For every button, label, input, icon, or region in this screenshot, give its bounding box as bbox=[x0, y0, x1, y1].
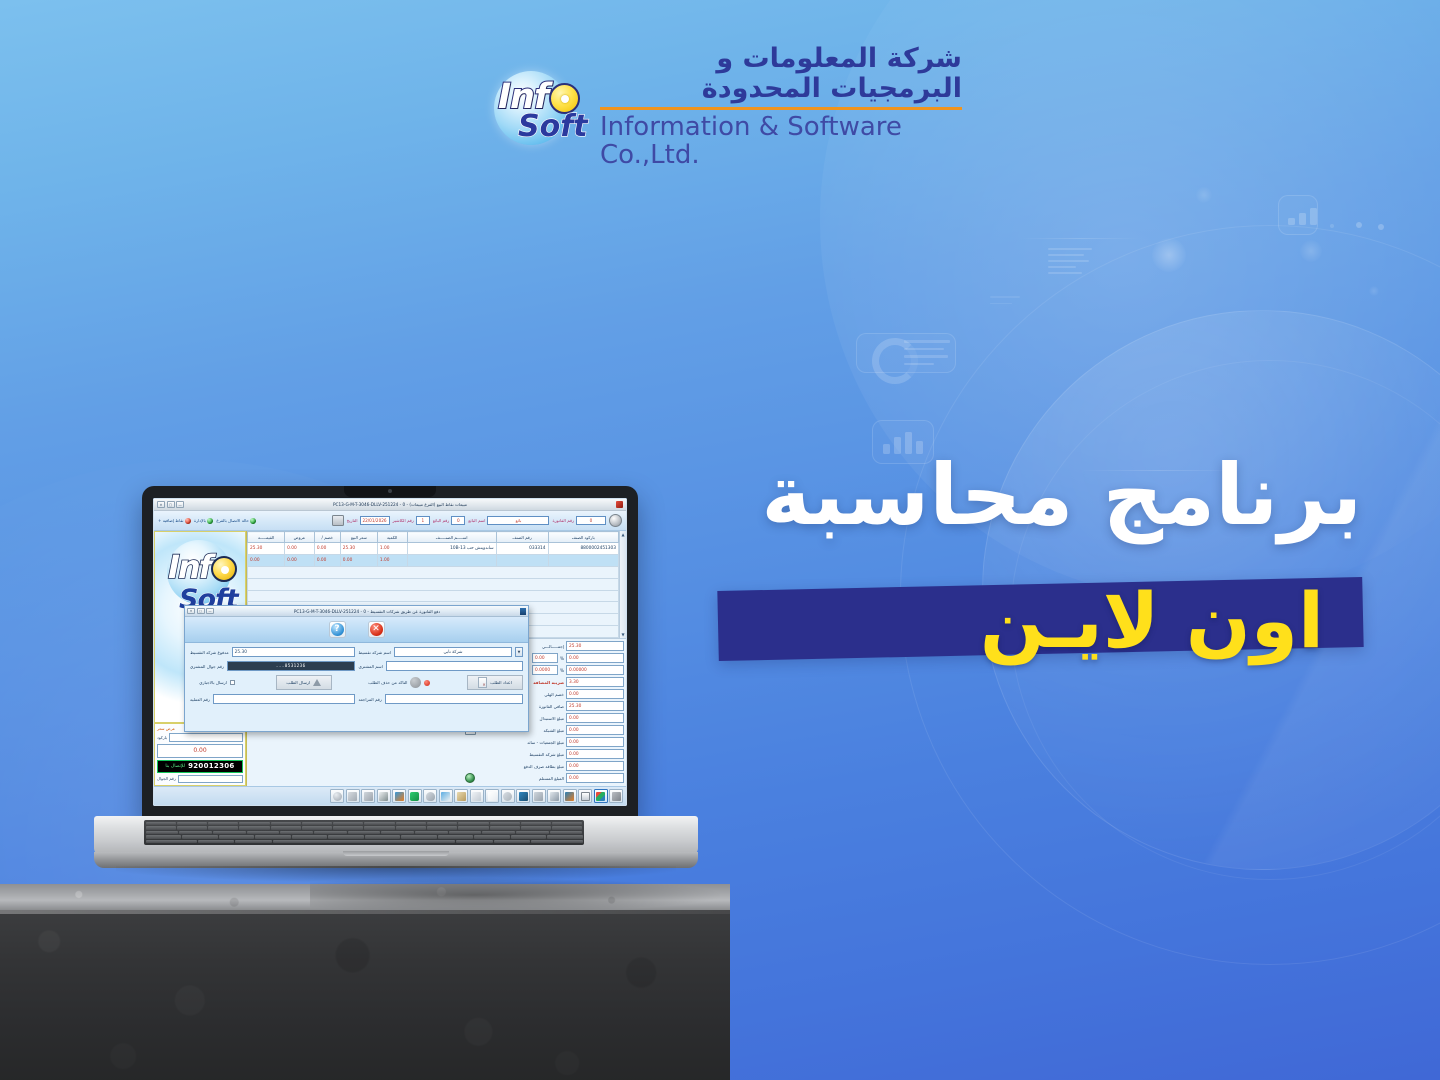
clipboard-icon[interactable] bbox=[454, 789, 468, 803]
buyer-name-input[interactable] bbox=[386, 661, 523, 671]
document-cancel-icon bbox=[478, 677, 487, 688]
laptop-deck bbox=[94, 816, 698, 856]
circle-icon[interactable] bbox=[330, 789, 344, 803]
laptop-drop-shadow bbox=[116, 866, 676, 882]
table-row[interactable] bbox=[248, 578, 619, 590]
ahli-discount-value: 0.00 bbox=[566, 689, 624, 699]
app-title: مبيعات نقاط البيع (الفرع مبيعات) - 0 - P… bbox=[187, 502, 613, 507]
cell-offers: 0.00 bbox=[285, 554, 315, 566]
brand-arabic-name: شركة المعلومات و البرمجيات المحدودة bbox=[600, 44, 962, 104]
laptop-base bbox=[86, 816, 706, 874]
total-row-installment: 0.00 مبلغ شركة التقسيط bbox=[465, 749, 624, 760]
company-select-label: اسم شركة تقسيط bbox=[359, 650, 391, 655]
help-question-icon: ? bbox=[331, 623, 344, 636]
keyboard-row bbox=[146, 826, 583, 830]
buyer-mobile-label: رقم جوال المشتري bbox=[190, 664, 224, 669]
background-line-1 bbox=[1020, 238, 1140, 239]
window-icon[interactable] bbox=[578, 789, 592, 803]
dialog-title: دفع الفاتورة عن طريق شركات التقسيط - 0 -… bbox=[216, 609, 518, 614]
delete-icon[interactable] bbox=[485, 789, 499, 803]
table-row[interactable]: 8800002451303 033314 ساندويتش حب 13-10B … bbox=[248, 543, 619, 555]
brand-english-name: Information & Software Co.,Ltd. bbox=[600, 113, 962, 170]
laptop-keyboard bbox=[144, 820, 584, 845]
report-icon[interactable] bbox=[470, 789, 484, 803]
cell-price: 0.00 bbox=[340, 554, 377, 566]
col-item-name: اســـــم الصنـــــف bbox=[407, 532, 496, 543]
keyboard-row bbox=[146, 835, 583, 839]
cell-value: 0.00 bbox=[248, 554, 285, 566]
gray-circle-icon bbox=[410, 677, 421, 688]
wizard-icon[interactable] bbox=[439, 789, 453, 803]
percent-symbol-1: % bbox=[560, 656, 564, 661]
dialog-field-amount: 25.30 مدفوع شركة التقسيط bbox=[190, 647, 355, 657]
prepaid-card-label: مبلغ بطاقة صرف الدفع bbox=[465, 764, 564, 769]
minimize-button[interactable]: — bbox=[176, 501, 184, 508]
cell-price: 25.30 bbox=[340, 543, 377, 555]
reference-label: رقم المراجعة bbox=[359, 697, 382, 702]
balloon-icon[interactable] bbox=[423, 789, 437, 803]
buyer-mobile-input[interactable]: 0531236... bbox=[227, 661, 355, 671]
dialog-minimize-button[interactable]: — bbox=[206, 608, 214, 615]
seller-no-input[interactable]: 0 bbox=[451, 516, 465, 525]
scroll-up-icon[interactable]: ▲ bbox=[621, 532, 624, 537]
status-branch-label: حالة الاتصال بالفرع bbox=[216, 518, 249, 523]
total-row-received: 0.00 المبلغ المستلم bbox=[465, 773, 624, 784]
cell-discount: 0.00 bbox=[314, 554, 340, 566]
associations-label: مبلغ الجمعيات - سائد bbox=[465, 740, 564, 745]
cell-barcode: 8800002451303 bbox=[548, 543, 618, 555]
red-led-icon bbox=[185, 518, 191, 524]
dialog-icon bbox=[520, 608, 526, 615]
contact-banner: 920012306 للإتصال بنا bbox=[157, 760, 243, 773]
seller-name-label: اسم البائع bbox=[468, 518, 485, 523]
barcode-row: باركود bbox=[157, 733, 243, 742]
associations-value: 0.00 bbox=[566, 737, 624, 747]
operation-label: رقم العملية bbox=[190, 697, 210, 702]
dialog-restore-button[interactable]: ▢ bbox=[197, 608, 205, 615]
send-request-label: ارسال الطلب bbox=[286, 680, 310, 685]
net-invoice-value: 25.30 bbox=[566, 701, 624, 711]
tag-icon[interactable] bbox=[501, 789, 515, 803]
cell-item-name bbox=[407, 554, 496, 566]
dialog-window-controls[interactable]: — ▢ ✕ bbox=[187, 608, 214, 615]
deco-report-lines bbox=[904, 340, 950, 370]
discount-pct: 0.00 bbox=[532, 653, 558, 663]
field-seller-no[interactable]: 0 رقم البائع bbox=[433, 516, 466, 525]
buyer-name-label: اسم المشتري bbox=[359, 664, 383, 669]
side-barcode-label: باركود bbox=[157, 735, 167, 740]
bar-chart-icon-top bbox=[1288, 208, 1317, 225]
side-total-display: 0.00 bbox=[157, 744, 243, 758]
company-logo: Inf Soft شركة المعلومات و البرمجيات المح… bbox=[492, 66, 962, 148]
printer2-icon[interactable] bbox=[377, 789, 391, 803]
headline-line-1: برنامج محاسبة bbox=[662, 452, 1362, 539]
send-request-button[interactable]: ارسال الطلب bbox=[276, 675, 332, 690]
network-value: 0.00 bbox=[566, 725, 624, 735]
dialog-field-reference: رقم المراجعة bbox=[359, 694, 524, 704]
cancel-request-button[interactable]: التاكد من حذف الطلب bbox=[363, 675, 435, 690]
laptop-screen: مبيعات نقاط البيع (الفرع مبيعات) - 0 - P… bbox=[153, 498, 627, 806]
dialog-row-4: رقم المراجعة رقم العملية bbox=[190, 694, 523, 704]
background-dot-2 bbox=[1378, 224, 1384, 230]
maximize-button[interactable]: ▢ bbox=[167, 501, 175, 508]
amount-label: مدفوع شركة التقسيط bbox=[190, 650, 229, 655]
contact-label: للإتصال بنا bbox=[165, 764, 185, 769]
side-bottom-panel: عرض سعر باركود 0.00 920012306 للإتصال بن… bbox=[154, 723, 246, 786]
discount-value: 0.00 bbox=[566, 653, 624, 663]
scroll-down-icon[interactable]: ▼ bbox=[621, 632, 624, 637]
table-row[interactable]: 1.00 0.00 0.00 0.00 0.00 bbox=[248, 554, 619, 566]
amount-input[interactable]: 25.30 bbox=[232, 647, 355, 657]
dialog-titlebar: دفع الفاتورة عن طريق شركات التقسيط - 0 -… bbox=[185, 606, 528, 617]
headline-block: برنامج محاسبة اون لايـن bbox=[662, 452, 1362, 539]
arrow-up-icon bbox=[313, 679, 321, 686]
infosoft-logo-mark: Inf Soft bbox=[492, 67, 588, 147]
cell-barcode bbox=[548, 554, 618, 566]
close-button[interactable]: ✕ bbox=[157, 501, 165, 508]
calc-icon[interactable] bbox=[392, 789, 406, 803]
vat-value: 3.30 bbox=[566, 677, 624, 687]
dialog-row-1: ▼ شركة تابي اسم شركة تقسيط 25.30 مدفوع ش… bbox=[190, 647, 523, 657]
seller-name-input[interactable]: بائع bbox=[487, 516, 549, 525]
folder-icon[interactable] bbox=[346, 789, 360, 803]
dialog-cancel-button[interactable]: ✕ bbox=[368, 621, 385, 638]
cell-item-no bbox=[496, 554, 548, 566]
deco-text-block bbox=[1048, 248, 1092, 278]
prepare-request-label: اعداد الطلب bbox=[490, 680, 512, 685]
dialog-row-2: اسم المشتري 0531236... رقم جوال المشتري bbox=[190, 661, 523, 671]
prepare-request-button[interactable]: اعداد الطلب bbox=[467, 675, 523, 690]
background-blur-dot-3 bbox=[1196, 187, 1212, 203]
status-admin: بالإدارة bbox=[194, 518, 213, 524]
installment-label: مبلغ شركة التقسيط bbox=[465, 752, 564, 757]
chat-icon[interactable] bbox=[408, 789, 422, 803]
side-barcode-input[interactable] bbox=[169, 733, 243, 742]
dialog-field-mobile: 0531236... رقم جوال المشتري bbox=[190, 661, 355, 671]
cell-discount: 0.00 bbox=[314, 543, 340, 555]
col-qty: الكمية bbox=[377, 532, 407, 543]
dialog-field-operation: رقم العملية bbox=[190, 694, 355, 704]
status-points-label: نقاط إضافية + bbox=[158, 518, 184, 523]
keyboard-row bbox=[146, 831, 583, 835]
rate-value: 0.00000 bbox=[566, 665, 624, 675]
brand-divider bbox=[600, 107, 962, 110]
send-whatsapp-toggle[interactable]: ارسال بالاجباري bbox=[190, 675, 244, 690]
brand-text: شركة المعلومات و البرمجيات المحدودة Info… bbox=[600, 44, 962, 170]
send-whatsapp-label: ارسال بالاجباري bbox=[199, 680, 227, 685]
table-row[interactable] bbox=[248, 590, 619, 602]
side-logo-info-text: Inf bbox=[168, 548, 211, 586]
app-titlebar: مبيعات نقاط البيع (الفرع مبيعات) - 0 - P… bbox=[154, 499, 626, 511]
cell-value: 25.30 bbox=[248, 543, 285, 555]
cashier-no-label: رقم الكاشير bbox=[393, 518, 414, 523]
refresh-icon[interactable] bbox=[609, 514, 622, 527]
installment-payment-dialog: دفع الفاتورة عن طريق شركات التقسيط - 0 -… bbox=[184, 605, 529, 732]
field-invoice-no[interactable]: 0 رقم الفاتورة bbox=[552, 516, 606, 525]
connection-status-group: حالة الاتصال بالفرع بالإدارة نقاط إضافية… bbox=[158, 518, 256, 524]
grid-header-row: باركود الصنف رقم الصنف اســـــم الصنــــ… bbox=[248, 532, 619, 543]
rate-pct: 0.0000 bbox=[532, 665, 558, 675]
app-icon bbox=[616, 501, 623, 508]
keyboard-row bbox=[146, 822, 583, 826]
operation-input[interactable] bbox=[213, 694, 355, 704]
received-value: 0.00 bbox=[566, 773, 624, 783]
laptop-mockup: مبيعات نقاط البيع (الفرع مبيعات) - 0 - P… bbox=[86, 486, 706, 916]
headline-line-2: اون لايـن bbox=[724, 581, 1324, 660]
contact-number: 920012306 bbox=[188, 762, 235, 770]
side-mobile-input[interactable] bbox=[178, 775, 243, 784]
seal-icon bbox=[465, 773, 475, 783]
printer-icon[interactable] bbox=[332, 515, 344, 526]
green-led-icon-2 bbox=[207, 518, 213, 524]
total-row-prepaid-card: 0.00 مبلغ بطاقة صرف الدفع bbox=[465, 761, 624, 772]
status-admin-label: بالإدارة bbox=[194, 518, 206, 523]
laptop-front-notch bbox=[343, 851, 449, 856]
field-cashier-no[interactable]: 1 رقم الكاشير bbox=[393, 516, 430, 525]
keyboard-row bbox=[146, 840, 583, 844]
col-price: سعر البيع bbox=[340, 532, 377, 543]
red-pin-icon bbox=[424, 680, 430, 686]
installment-value: 0.00 bbox=[566, 749, 624, 759]
side-mobile-label: رقم الجوال bbox=[157, 776, 176, 781]
dialog-field-company: ▼ شركة تابي اسم شركة تقسيط bbox=[359, 647, 524, 657]
bottom-toolbar bbox=[154, 786, 626, 805]
col-value: القيمـــــة bbox=[248, 532, 285, 543]
table-row[interactable] bbox=[248, 566, 619, 578]
cell-qty: 1.00 bbox=[377, 554, 407, 566]
invoice-header-toolbar: 0 رقم الفاتورة بائع اسم البائع 0 رقم الب… bbox=[154, 511, 626, 531]
grid-scrollbar[interactable]: ▲ ▼ bbox=[619, 531, 626, 638]
offers-label: عرض سعر bbox=[157, 726, 175, 731]
background-dot-3 bbox=[1330, 224, 1334, 228]
received-label: المبلغ المستلم bbox=[477, 776, 564, 781]
logo-soft-text: Soft bbox=[518, 109, 588, 144]
pos-application: مبيعات نقاط البيع (الفرع مبيعات) - 0 - P… bbox=[153, 498, 627, 806]
customers-icon[interactable] bbox=[594, 789, 608, 803]
percent-symbol-2: % bbox=[560, 668, 564, 673]
invoice-no-label: رقم الفاتورة bbox=[552, 518, 574, 523]
exchange-value: 0.00 bbox=[566, 713, 624, 723]
reference-input[interactable] bbox=[385, 694, 523, 704]
grand-total-value: 25.30 bbox=[566, 641, 624, 651]
print-icon[interactable] bbox=[547, 789, 561, 803]
green-led-icon bbox=[250, 518, 256, 524]
box-icon[interactable] bbox=[361, 789, 375, 803]
edit-icon[interactable] bbox=[532, 789, 546, 803]
col-discount: خصم / bbox=[314, 532, 340, 543]
cancel-request-label: التاكد من حذف الطلب bbox=[368, 680, 407, 685]
mobile-row: رقم الجوال bbox=[157, 775, 243, 784]
field-date[interactable]: 22/01/2026 التاريخ bbox=[347, 516, 390, 525]
save-icon[interactable] bbox=[609, 789, 623, 803]
seller-no-label: رقم البائع bbox=[433, 518, 450, 523]
col-barcode: باركود الصنف bbox=[548, 532, 618, 543]
cell-item-name: ساندويتش حب 13-10B bbox=[407, 543, 496, 555]
whatsapp-checkbox[interactable] bbox=[230, 680, 235, 685]
date-label: التاريخ bbox=[347, 518, 358, 523]
field-seller-name[interactable]: بائع اسم البائع bbox=[468, 516, 549, 525]
side-logo-o-icon bbox=[211, 556, 237, 582]
col-item-no: رقم الصنف bbox=[496, 532, 548, 543]
image-icon[interactable] bbox=[563, 789, 577, 803]
company-select-value[interactable]: شركة تابي bbox=[394, 647, 512, 657]
chevron-down-icon[interactable]: ▼ bbox=[515, 647, 523, 657]
dialog-field-buyer: اسم المشتري bbox=[359, 661, 524, 671]
background-blur-dot-2 bbox=[1300, 240, 1322, 262]
col-offers: عروض bbox=[285, 532, 315, 543]
dialog-close-button[interactable]: ✕ bbox=[187, 608, 195, 615]
cell-qty: 1.00 bbox=[377, 543, 407, 555]
prepaid-card-value: 0.00 bbox=[566, 761, 624, 771]
status-points: نقاط إضافية + bbox=[158, 518, 191, 524]
status-branch: حالة الاتصال بالفرع bbox=[216, 518, 256, 524]
dialog-body: ▼ شركة تابي اسم شركة تقسيط 25.30 مدفوع ش… bbox=[185, 643, 528, 731]
date-input[interactable]: 22/01/2026 bbox=[360, 516, 390, 525]
cell-offers: 0.00 bbox=[285, 543, 315, 555]
cancel-x-icon: ✕ bbox=[370, 623, 383, 636]
dialog-help-button[interactable]: ? bbox=[329, 621, 346, 638]
cashier-no-input[interactable]: 1 bbox=[416, 516, 430, 525]
poster-stage: Inf Soft شركة المعلومات و البرمجيات المح… bbox=[0, 0, 1440, 1080]
background-blur-dot-1 bbox=[1152, 238, 1186, 272]
deco-text-block-2 bbox=[990, 296, 1020, 309]
invoice-no-input[interactable]: 0 bbox=[576, 516, 606, 525]
dialog-action-bar: ✕ ? bbox=[185, 617, 528, 643]
dialog-row-3: اعداد الطلب التاكد من حذف الطلب bbox=[190, 675, 523, 690]
webcam-icon bbox=[388, 489, 392, 493]
total-row-associations: 0.00 مبلغ الجمعيات - سائد bbox=[465, 737, 624, 748]
laptop-lid: مبيعات نقاط البيع (الفرع مبيعات) - 0 - P… bbox=[142, 486, 638, 820]
export-icon[interactable] bbox=[516, 789, 530, 803]
background-blur-dot-4 bbox=[1369, 286, 1379, 296]
window-controls[interactable]: — ▢ ✕ bbox=[157, 501, 184, 508]
cell-item-no: 033314 bbox=[496, 543, 548, 555]
pedestal-face bbox=[0, 910, 730, 1080]
background-dot-1 bbox=[1356, 222, 1362, 228]
